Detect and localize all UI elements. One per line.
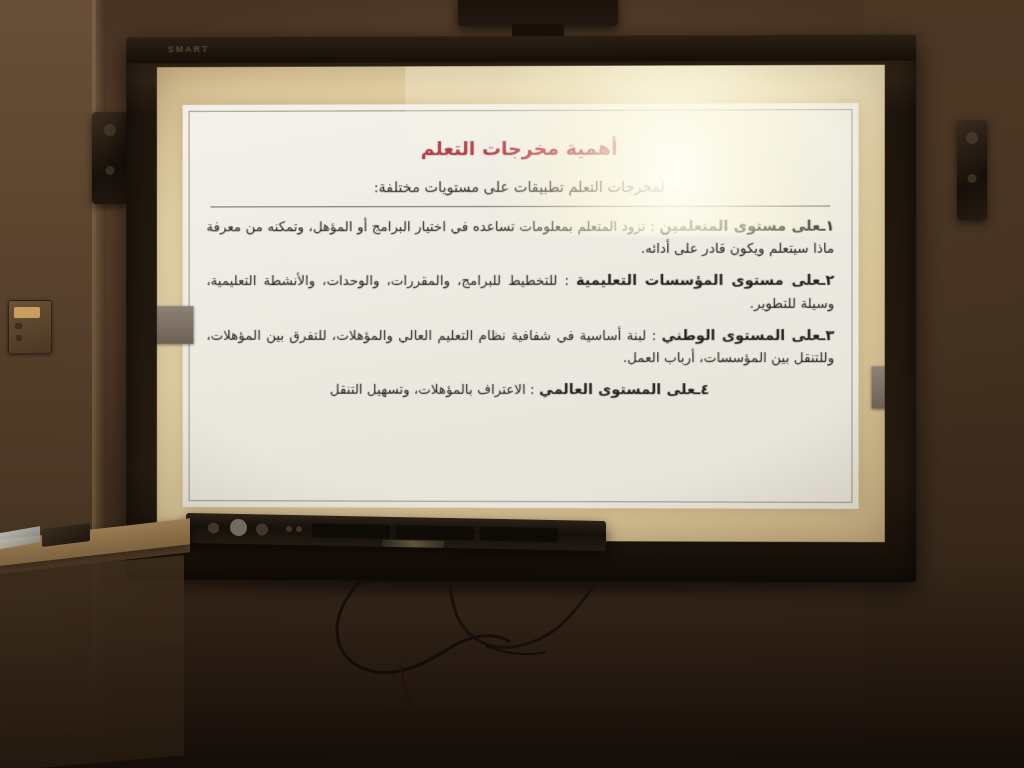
- slide-item-separator: :: [652, 328, 657, 344]
- pen-tray-button-keyboard-icon[interactable]: [256, 523, 268, 535]
- slide-list-item: ٢ـعلى مستوى المؤسسات التعليمية : للتخطيط…: [206, 270, 834, 316]
- pen-tray-button-power-icon[interactable]: [230, 519, 247, 536]
- slide-item-separator: :: [565, 273, 570, 289]
- slide-subtitle: لمخرجات التعلم تطبيقات على مستويات مختلف…: [204, 179, 836, 196]
- wall-speaker-right: [957, 120, 987, 220]
- pen-tray-led-icon: [286, 526, 292, 532]
- ceiling-projector: [458, 0, 618, 26]
- slide-item-text: الاعتراف بالمؤهلات، وتسهيل التنقل: [330, 382, 526, 398]
- slide-list-item: ١ـعلى مستوى المتعلمين : تزود المتعلم بمع…: [206, 216, 834, 262]
- slide-item-number: ٤ـ: [695, 382, 709, 398]
- speaker-driver-icon: [968, 174, 977, 183]
- socket-screw-icon: [15, 323, 22, 329]
- pen-slot[interactable]: [312, 523, 390, 538]
- slide-item-number: ٢ـ: [820, 273, 834, 289]
- smart-brand-logo: SMART: [168, 44, 210, 54]
- hanging-cables: [300, 582, 620, 712]
- slide-item-number: ٣ـ: [820, 328, 834, 344]
- pen-tray-led-icon: [296, 526, 302, 532]
- projection-screen[interactable]: أهمية مخرجات التعلم لمخرجات التعلم تطبيق…: [157, 65, 885, 542]
- speaker-driver-icon: [104, 124, 116, 136]
- wall-socket[interactable]: [8, 300, 52, 354]
- eraser-slot[interactable]: [480, 527, 558, 542]
- screen-clip-left: [157, 306, 194, 344]
- slide-item-separator: :: [650, 219, 655, 235]
- socket-outlet-icon: [14, 307, 40, 318]
- socket-screw-icon: [16, 335, 22, 341]
- pen-tray-button-help-icon[interactable]: [208, 522, 219, 533]
- speaker-driver-icon: [966, 132, 978, 144]
- slide-item-lead: على المستوى العالمي: [539, 382, 695, 398]
- slide-title: أهمية مخرجات التعلم: [204, 137, 836, 160]
- screen-clip-right: [872, 366, 885, 408]
- slide-item-number: ١ـ: [820, 219, 834, 235]
- slide-item-separator: :: [530, 382, 535, 398]
- classroom-scene: SMART أهمية مخرجات التعلم لمخرجات التعلم…: [0, 0, 1024, 768]
- desk-body: [0, 555, 184, 768]
- pen-tray-indicator-strip: [382, 540, 444, 548]
- smartboard[interactable]: SMART أهمية مخرجات التعلم لمخرجات التعلم…: [126, 34, 916, 582]
- slide-item-lead: على المستوى الوطني: [662, 328, 821, 344]
- wooden-desk: [0, 516, 204, 616]
- slide-item-lead: على مستوى المتعلمين: [659, 219, 820, 235]
- slide-divider: [210, 206, 830, 208]
- slide-item-lead: على مستوى المؤسسات التعليمية: [576, 273, 820, 289]
- slide-list-item: ٤ـعلى المستوى العالمي : الاعتراف بالمؤهل…: [206, 379, 834, 403]
- pen-slot[interactable]: [396, 525, 474, 540]
- slide-list-item: ٣ـعلى المستوى الوطني : لبنة أساسية في شف…: [206, 325, 834, 371]
- presentation-slide: أهمية مخرجات التعلم لمخرجات التعلم تطبيق…: [183, 103, 859, 509]
- speaker-driver-icon: [106, 166, 115, 175]
- wall-speaker-left: [92, 112, 128, 204]
- smartboard-bezel-top: SMART: [126, 34, 916, 63]
